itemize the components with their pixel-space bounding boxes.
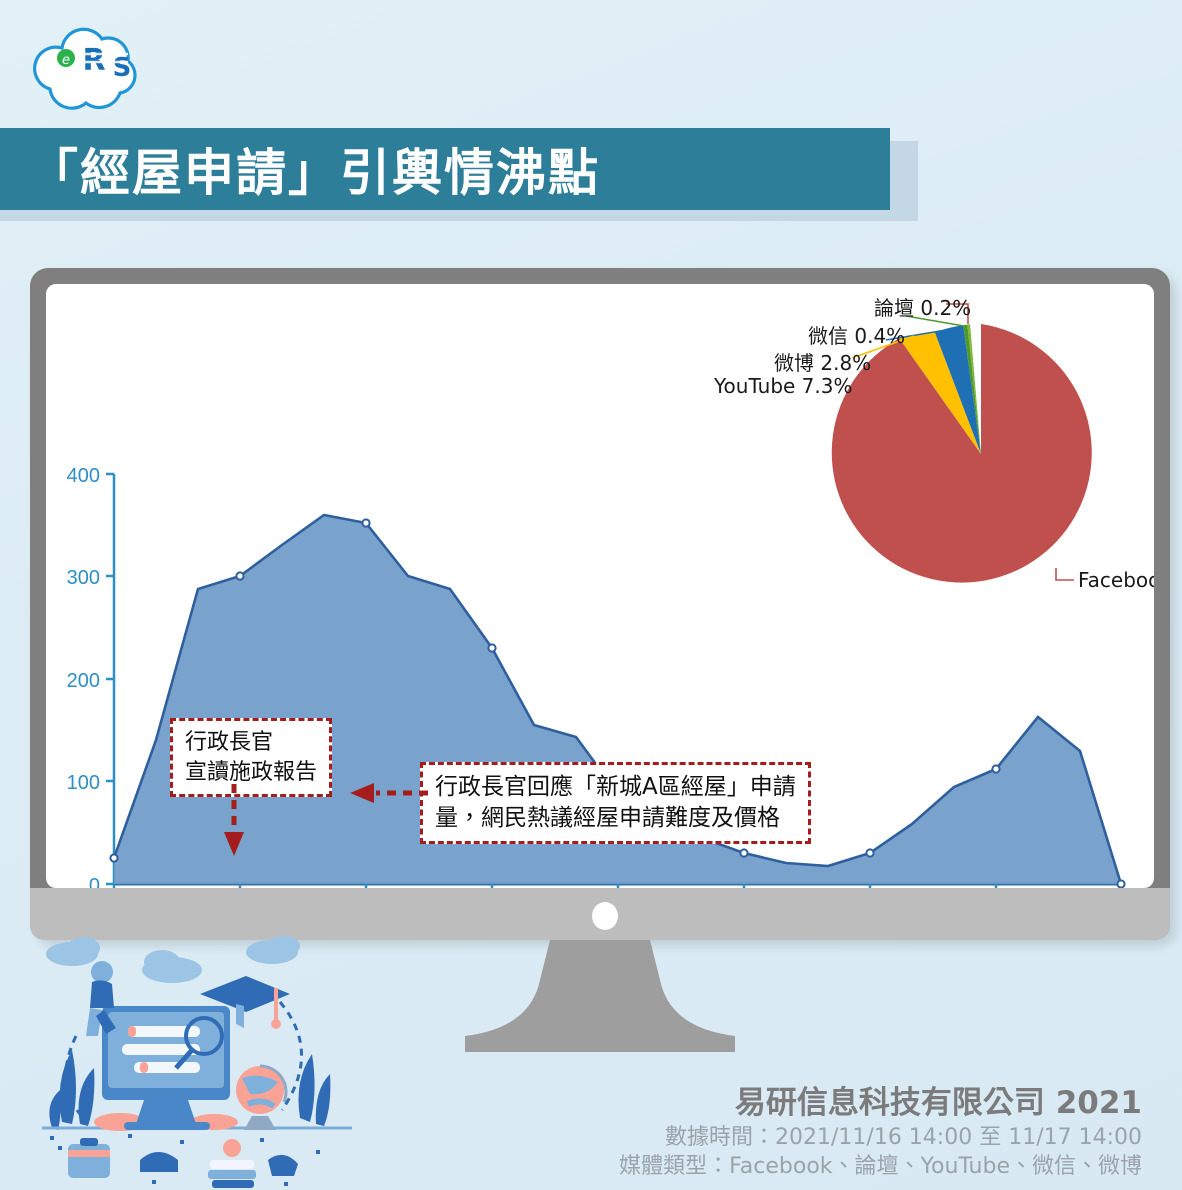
leader-facebook [1056,568,1074,580]
footer-media-types: 媒體類型：Facebook、論壇、YouTube、微信、微博 [619,1152,1142,1182]
pie-label-weibo: 微博 2.8% [774,347,871,376]
illustration-monitor [102,1006,230,1130]
logo-letter-R: R [82,43,105,78]
decorative-illustration [32,932,362,1190]
person-figure [86,961,116,1036]
annotation-2-arrow-left-icon [342,776,428,810]
globe-icon [236,1066,286,1130]
y-tick-300: 300 [67,567,100,589]
page-title: 「經屋申請」引輿情沸點 [0,133,600,205]
y-tick-400: 400 [67,465,100,487]
footer: 易研信息科技有限公司 2021 數據時間：2021/11/16 14:00 至 … [619,1084,1142,1182]
footer-data-period: 數據時間：2021/11/16 14:00 至 11/17 14:00 [619,1123,1142,1153]
brand-logo: e R S [26,18,146,118]
pie-label-forum: 論壇 0.2% [874,292,971,321]
bottom-objects [68,1138,298,1188]
title-bar: 「經屋申請」引輿情沸點 [0,128,890,210]
pie-label-wechat: 微信 0.4% [808,320,905,349]
monitor-screen: 400 300 200 100 0 [46,284,1154,888]
monitor-stand [455,940,745,1058]
pie-label-youtube: YouTube 7.3% [714,374,853,398]
monitor-mockup: 400 300 200 100 0 [30,268,1170,940]
y-tick-100: 100 [67,772,100,794]
footer-company: 易研信息科技有限公司 2021 [619,1084,1142,1123]
annotation-1-arrow-down-icon [214,784,254,864]
y-tick-0: 0 [89,875,100,888]
annotation-ceo-response: 行政長官回應「新城A區經屋」申請 量，網民熱議經屋申請難度及價格 [420,762,811,844]
y-tick-200: 200 [67,670,100,692]
monitor-power-button[interactable] [592,902,618,930]
svg-text:e: e [62,53,70,68]
pie-label-facebook: Facebook 89.3% [1078,568,1154,592]
cloud-icon-group [46,936,300,983]
